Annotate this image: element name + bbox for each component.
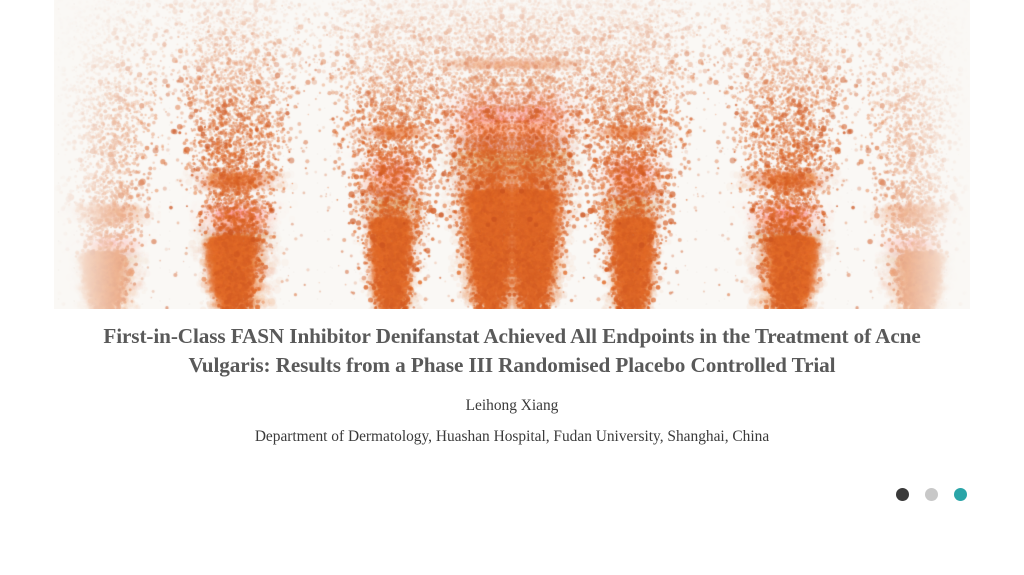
presentation-slide: First-in-Class FASN Inhibitor Denifansta… <box>0 0 1024 575</box>
particle-spray-graphic <box>54 0 970 309</box>
progress-dot-3[interactable] <box>954 488 967 501</box>
author-name: Leihong Xiang <box>0 379 1024 416</box>
hero-banner-image <box>54 0 970 309</box>
title-text-block: First-in-Class FASN Inhibitor Denifansta… <box>0 309 1024 447</box>
page-title: First-in-Class FASN Inhibitor Denifansta… <box>0 309 1024 379</box>
author-affiliation: Department of Dermatology, Huashan Hospi… <box>0 416 1024 447</box>
progress-dot-1[interactable] <box>896 488 909 501</box>
progress-dot-2[interactable] <box>925 488 938 501</box>
slide-progress-dots[interactable] <box>896 488 967 501</box>
